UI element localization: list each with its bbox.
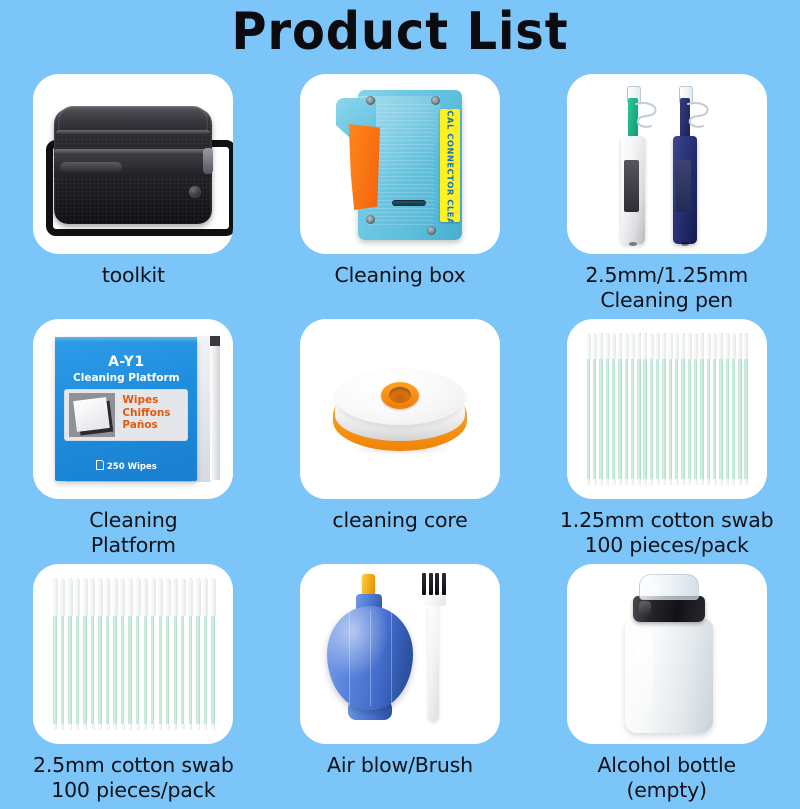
- alcohol-pump-bottle-icon: [567, 564, 767, 744]
- product-caption: toolkit: [8, 263, 258, 288]
- cotton-swab-stick: [680, 333, 685, 485]
- cotton-swab-stick: [165, 578, 170, 730]
- product-card-toolkit[interactable]: toolkit: [0, 74, 267, 319]
- cotton-swab-stick: [112, 578, 117, 730]
- product-caption: Alcohol bottle (empty): [542, 753, 792, 803]
- product-caption: cleaning core: [275, 508, 525, 533]
- cleaning-pen-blue: [667, 84, 701, 244]
- cotton-swab-stick: [642, 333, 647, 485]
- cotton-swab-stick: [203, 578, 208, 730]
- cleaner-label-text: OPTICAL CONNECTOR CLEANER: [445, 109, 455, 222]
- cotton-swab-stick: [90, 578, 95, 730]
- platform-words: Wipes Chiffons Paños: [122, 394, 184, 432]
- cotton-swab-stick: [127, 578, 132, 730]
- product-image-cleaning-platform: A-Y1 Cleaning Platform Wipes Chiffons Pa…: [33, 319, 233, 499]
- product-caption: Cleaning Platform: [8, 508, 258, 558]
- cotton-swab-stick: [712, 333, 717, 485]
- cotton-swab-stick: [624, 333, 629, 485]
- cotton-swab-stick: [655, 333, 660, 485]
- cotton-swab-bundle-icon: [567, 319, 767, 499]
- cotton-swab-stick: [143, 578, 148, 730]
- cleaning-pen-white: [615, 84, 649, 244]
- platform-count: 250 Wipes: [107, 462, 157, 472]
- platform-brand: A-Y1: [55, 354, 197, 370]
- optical-connector-cleaner-box-icon: OPTICAL CONNECTOR CLEANER: [300, 74, 500, 254]
- cotton-swab-stick: [75, 578, 80, 730]
- cotton-swab-stick: [105, 578, 110, 730]
- product-card-cotton-swab-125[interactable]: 1.25mm cotton swab 100 pieces/pack: [533, 319, 800, 564]
- cotton-swab-stick: [706, 333, 711, 485]
- cotton-swab-stick: [67, 578, 72, 730]
- product-caption: Air blow/Brush: [275, 753, 525, 778]
- product-card-alcohol-bottle[interactable]: Alcohol bottle (empty): [533, 564, 800, 809]
- cotton-swab-stick: [649, 333, 654, 485]
- product-card-cleaning-platform[interactable]: A-Y1 Cleaning Platform Wipes Chiffons Pa…: [0, 319, 267, 564]
- product-image-alcohol-bottle: [567, 564, 767, 744]
- cotton-swab-stick: [158, 578, 163, 730]
- cotton-swab-stick: [630, 333, 635, 485]
- cotton-swab-stick: [699, 333, 704, 485]
- cotton-swab-stick: [173, 578, 178, 730]
- product-caption: 2.5mm/1.25mm Cleaning pen: [542, 263, 792, 313]
- product-caption: 1.25mm cotton swab 100 pieces/pack: [542, 508, 792, 558]
- product-image-toolkit: [33, 74, 233, 254]
- platform-count-row: 250 Wipes: [55, 460, 197, 472]
- cotton-swab-stick: [150, 578, 155, 730]
- product-image-cleaning-box: OPTICAL CONNECTOR CLEANER: [300, 74, 500, 254]
- cleaner-yellow-label: OPTICAL CONNECTOR CLEANER: [440, 109, 460, 222]
- cotton-swab-stick: [737, 333, 742, 485]
- product-card-cleaning-core[interactable]: cleaning core: [267, 319, 534, 564]
- cotton-swab-stick: [586, 333, 591, 485]
- cotton-swab-stick: [731, 333, 736, 485]
- product-grid: toolkit OPTICAL CONNECTOR CLEANER: [0, 74, 800, 809]
- cleaning-pen-icon: [567, 74, 767, 254]
- toolkit-case-icon: [33, 74, 233, 254]
- product-card-cotton-swab-25[interactable]: 2.5mm cotton swab 100 pieces/pack: [0, 564, 267, 809]
- cotton-swab-stick: [636, 333, 641, 485]
- cotton-swab-stick: [687, 333, 692, 485]
- cotton-swab-stick: [120, 578, 125, 730]
- platform-subtitle: Cleaning Platform: [55, 372, 197, 384]
- product-list-page: Product List: [0, 0, 800, 800]
- cotton-swab-stick: [611, 333, 616, 485]
- cotton-swab-stick: [605, 333, 610, 485]
- cotton-swab-stick: [180, 578, 185, 730]
- cleaning-core-puck-icon: [300, 319, 500, 499]
- cotton-swab-stick: [52, 578, 57, 730]
- product-card-cleaning-pen[interactable]: 2.5mm/1.25mm Cleaning pen: [533, 74, 800, 319]
- cotton-swab-bundle-icon: [33, 564, 233, 744]
- page-title: Product List: [32, 2, 768, 62]
- cotton-swab-stick: [592, 333, 597, 485]
- product-caption: Cleaning box: [275, 263, 525, 288]
- cotton-swab-stick: [188, 578, 193, 730]
- cotton-swab-stick: [598, 333, 603, 485]
- cotton-swab-stick: [668, 333, 673, 485]
- wipe-sheet-icon: [96, 460, 104, 470]
- product-image-cleaning-pen: [567, 74, 767, 254]
- cotton-swab-stick: [97, 578, 102, 730]
- cotton-swab-stick: [210, 578, 215, 730]
- cotton-swab-stick: [617, 333, 622, 485]
- product-image-cotton-swab-125: [567, 319, 767, 499]
- cotton-swab-stick: [60, 578, 65, 730]
- product-image-air-blow-brush: [300, 564, 500, 744]
- cotton-swab-stick: [135, 578, 140, 730]
- product-caption: 2.5mm cotton swab 100 pieces/pack: [8, 753, 258, 803]
- cotton-swab-stick: [661, 333, 666, 485]
- cotton-swab-stick: [82, 578, 87, 730]
- cotton-swab-stick: [743, 333, 748, 485]
- air-blower-brush-icon: [300, 564, 500, 744]
- product-card-cleaning-box[interactable]: OPTICAL CONNECTOR CLEANER Cleaning box: [267, 74, 534, 319]
- product-image-cleaning-core: [300, 319, 500, 499]
- cleaner-lever: [346, 124, 380, 210]
- cotton-swab-stick: [725, 333, 730, 485]
- cleaning-platform-box-icon: A-Y1 Cleaning Platform Wipes Chiffons Pa…: [33, 319, 233, 499]
- cotton-swab-stick: [674, 333, 679, 485]
- cotton-swab-stick: [195, 578, 200, 730]
- brush-bristles-icon: [422, 573, 446, 595]
- cotton-swab-stick: [693, 333, 698, 485]
- cotton-swab-stick: [718, 333, 723, 485]
- product-image-cotton-swab-25: [33, 564, 233, 744]
- product-card-air-blow-brush[interactable]: Air blow/Brush: [267, 564, 534, 809]
